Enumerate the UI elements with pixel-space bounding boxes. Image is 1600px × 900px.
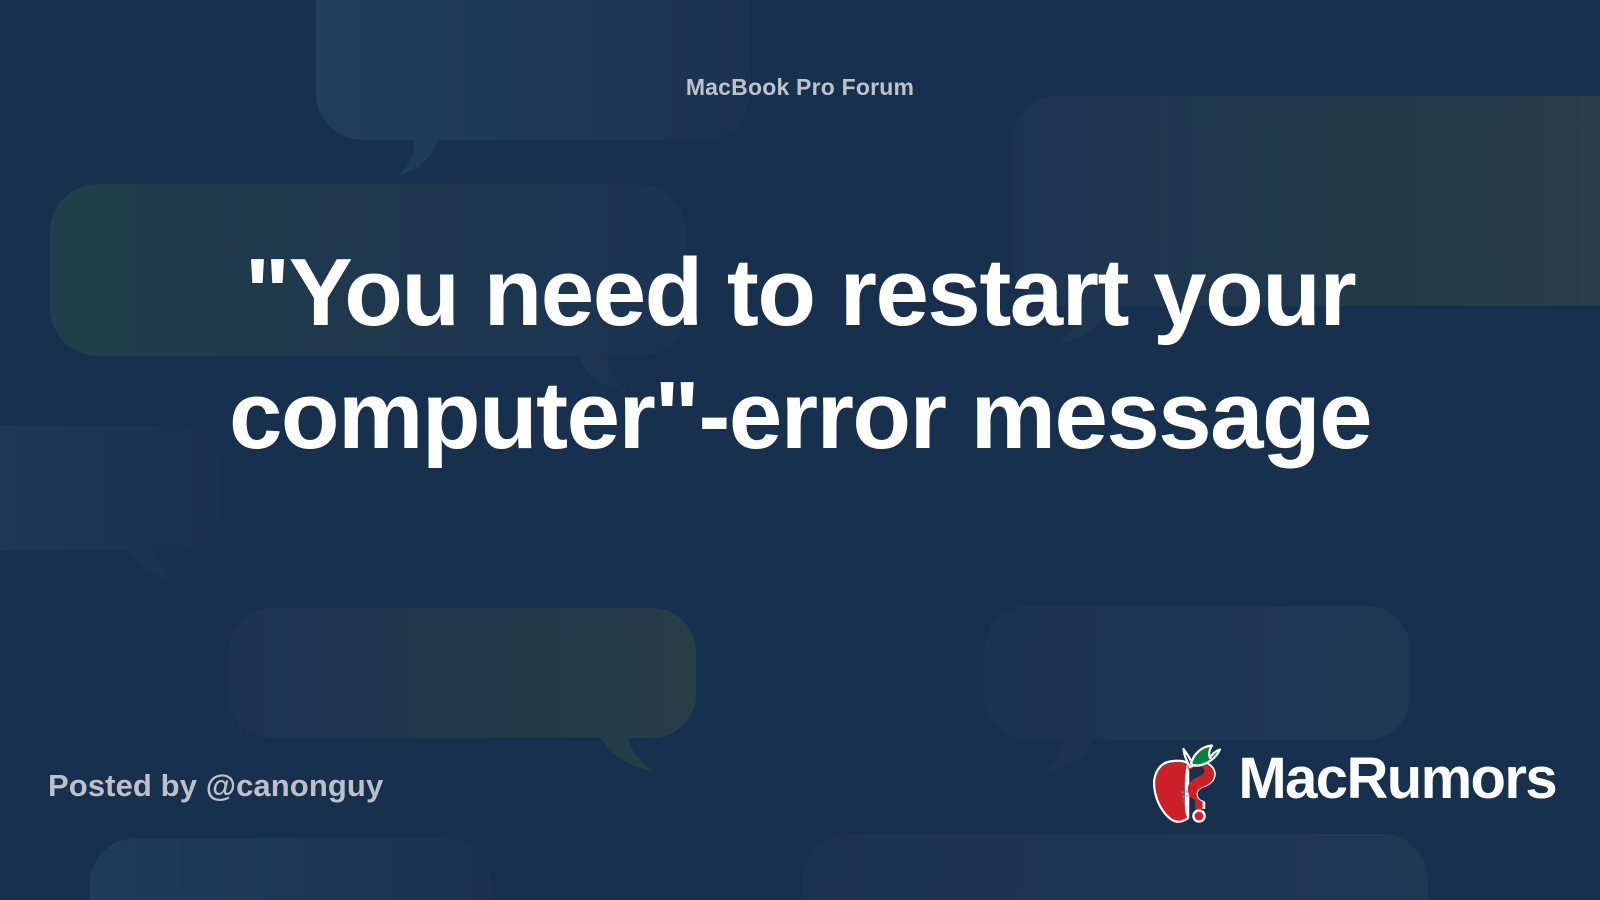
bubble-left-small (0, 426, 218, 582)
social-share-card: MacBook Pro Forum "You need to restart y… (0, 0, 1600, 900)
forum-label: MacBook Pro Forum (0, 74, 1600, 101)
bubble-mid-center (228, 608, 696, 771)
bubble-bottom-left (90, 838, 492, 900)
macrumors-apple-logo (1150, 737, 1230, 825)
page-title: "You need to restart your computer"-erro… (210, 232, 1390, 478)
macrumors-wordmark: MacRumors (1238, 750, 1556, 812)
bubble-bottom-right (802, 834, 1428, 900)
post-author-byline: Posted by @canonguy (48, 768, 383, 804)
macrumors-brand-lockup: MacRumors (1150, 736, 1556, 826)
